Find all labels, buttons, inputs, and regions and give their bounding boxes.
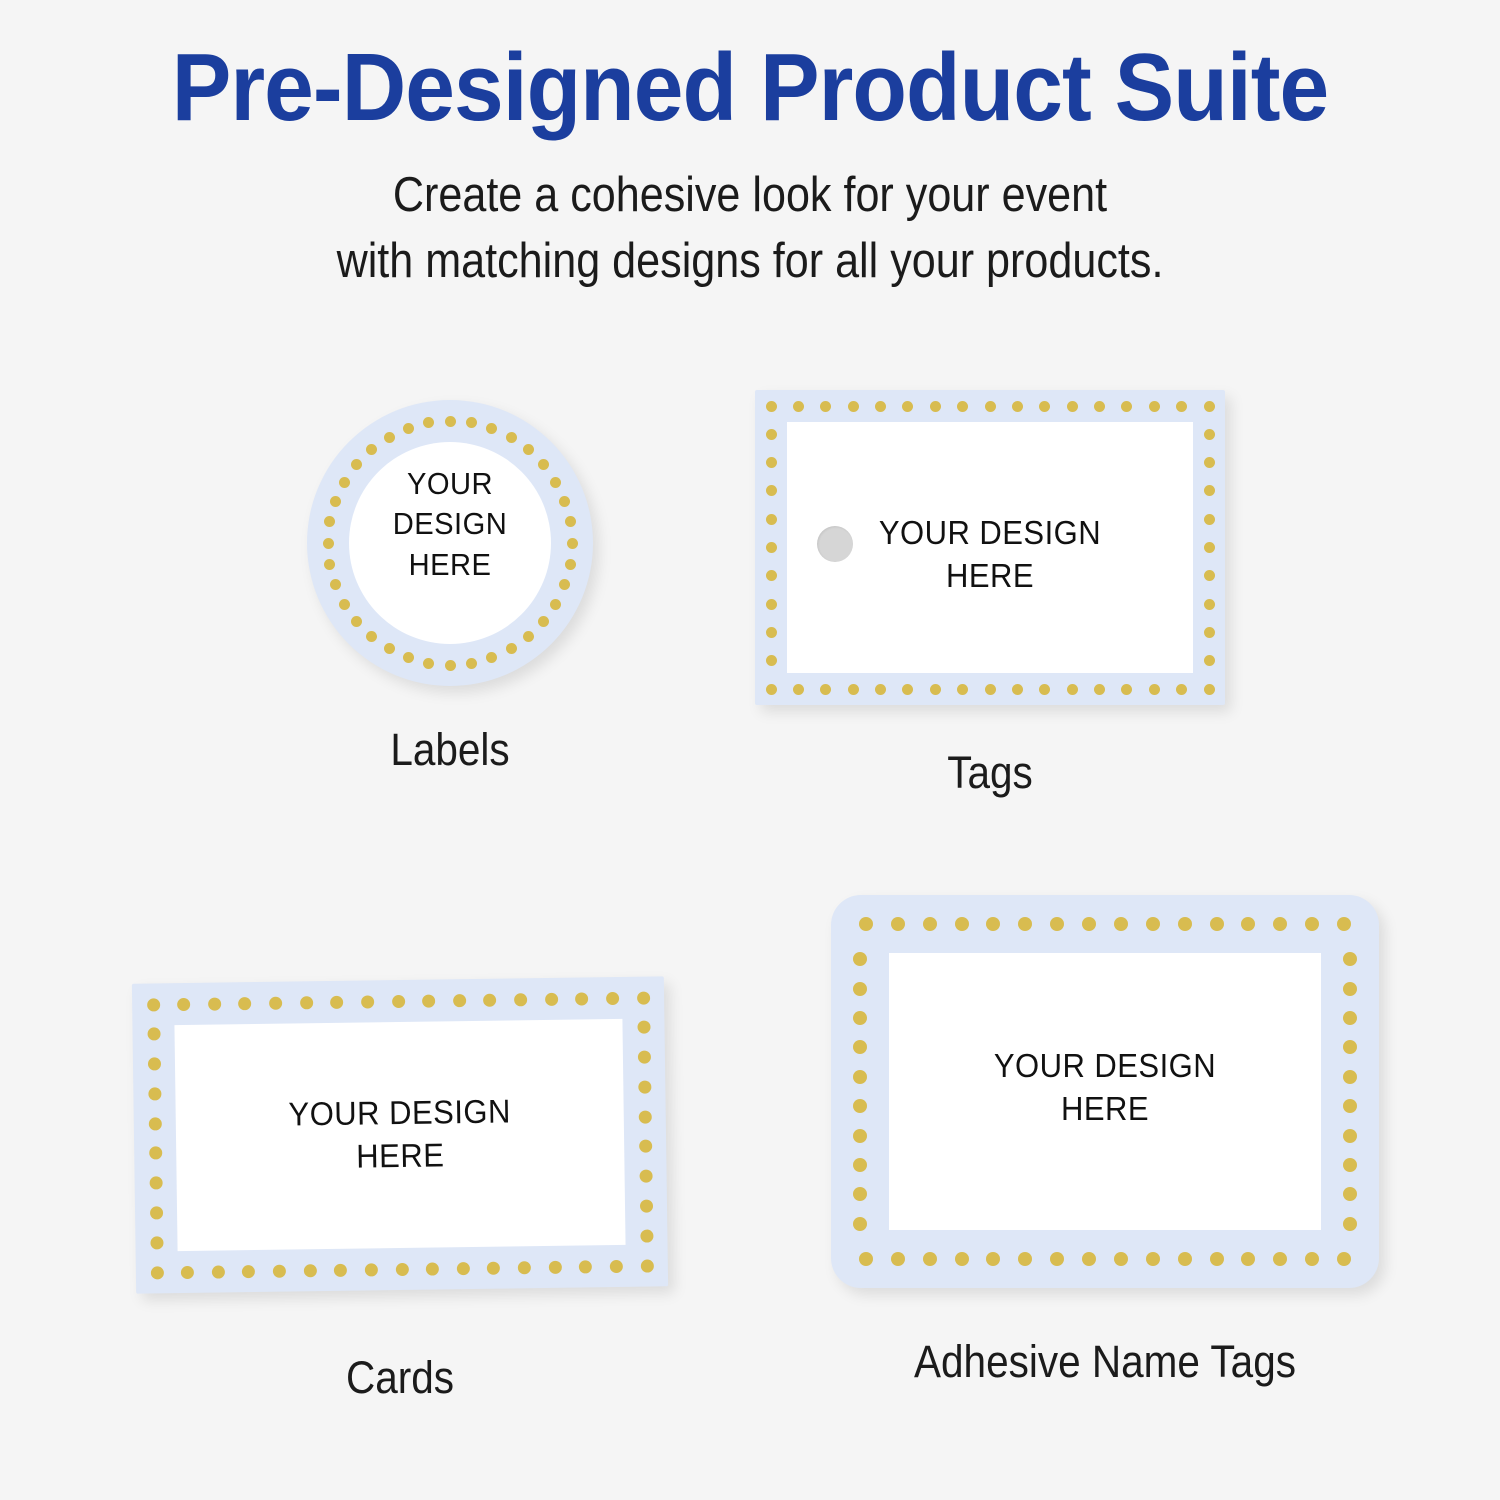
gold-dot: [177, 997, 190, 1010]
caption-tags: Tags: [765, 747, 1215, 799]
gold-dot: [1149, 684, 1160, 695]
gold-dot: [1204, 542, 1215, 553]
gold-dot: [1018, 917, 1032, 931]
gold-dot: [1343, 1040, 1357, 1054]
gold-dot: [793, 684, 804, 695]
gold-dot: [426, 1262, 439, 1275]
gold-dot: [453, 994, 466, 1007]
product-cell-tags[interactable]: YOUR DESIGN HERE Tags: [740, 390, 1240, 799]
gold-dot: [1067, 401, 1078, 412]
gold-dot: [1204, 457, 1215, 468]
gold-dot: [1343, 1187, 1357, 1201]
gold-dot: [238, 997, 251, 1010]
gold-dot: [324, 516, 335, 527]
gold-dot: [1114, 1252, 1128, 1266]
gold-dot: [351, 459, 362, 470]
gold-dot: [1204, 599, 1215, 610]
gold-dot: [853, 1129, 867, 1143]
gold-dot: [1094, 684, 1105, 695]
gold-dot: [930, 401, 941, 412]
gold-dot: [330, 995, 343, 1008]
gold-dot: [1343, 1129, 1357, 1143]
gold-dot: [955, 917, 969, 931]
gold-dot: [986, 1252, 1000, 1266]
gold-dot: [639, 1140, 652, 1153]
gold-dot: [181, 1265, 194, 1278]
gold-dot: [853, 982, 867, 996]
product-cell-adhesive-name-tags[interactable]: YOUR DESIGN HERE Adhesive Name Tags: [790, 895, 1420, 1388]
gold-dot: [1343, 1070, 1357, 1084]
gold-dot: [1082, 917, 1096, 931]
gold-dot: [853, 1217, 867, 1231]
gold-dot: [1204, 570, 1215, 581]
card-inner-area: [174, 1019, 625, 1251]
gold-dot: [339, 477, 350, 488]
gold-dot: [208, 997, 221, 1010]
product-cell-labels[interactable]: YOUR DESIGN HERE Labels: [200, 400, 700, 776]
gold-dot: [351, 616, 362, 627]
gold-dot: [538, 616, 549, 627]
gold-dot: [392, 994, 405, 1007]
gold-dot: [1305, 917, 1319, 931]
gold-dot: [1204, 514, 1215, 525]
gold-dot: [637, 991, 650, 1004]
gold-dot: [1210, 917, 1224, 931]
gold-dot: [638, 1110, 651, 1123]
gold-dot: [486, 423, 497, 434]
gold-dot: [565, 559, 576, 570]
gold-dot: [848, 401, 859, 412]
gold-dot: [1204, 655, 1215, 666]
gold-dot: [514, 993, 527, 1006]
page-subtitle: Create a cohesive look for your event wi…: [90, 140, 1410, 295]
subtitle-line-2: with matching designs for all your produ…: [90, 228, 1410, 295]
gold-dot: [548, 1260, 561, 1273]
gold-dot: [766, 627, 777, 638]
gold-dot: [550, 477, 561, 488]
gold-dot: [550, 599, 561, 610]
gold-dot: [366, 444, 377, 455]
gold-dot: [930, 684, 941, 695]
gold-dot: [147, 998, 160, 1011]
gold-dot: [1204, 401, 1215, 412]
gold-dot: [610, 1259, 623, 1272]
gold-dot: [567, 538, 578, 549]
gold-dot: [523, 444, 534, 455]
gold-dot: [445, 660, 456, 671]
gold-dot: [466, 417, 477, 428]
gold-dot: [518, 1261, 531, 1274]
gold-dot: [395, 1262, 408, 1275]
gold-dot: [766, 514, 777, 525]
gold-dot: [1273, 1252, 1287, 1266]
gold-dot: [1204, 627, 1215, 638]
gold-dot: [640, 1259, 653, 1272]
gold-dot: [859, 1252, 873, 1266]
gold-dot: [1178, 917, 1192, 931]
gold-dot: [559, 496, 570, 507]
gold-dot: [853, 1011, 867, 1025]
gold-dot: [1121, 401, 1132, 412]
gold-dot: [766, 599, 777, 610]
gold-dot: [1305, 1252, 1319, 1266]
gold-dot: [147, 1057, 160, 1070]
gold-dot: [902, 401, 913, 412]
gold-dot: [1343, 952, 1357, 966]
page-title: Pre-Designed Product Suite: [53, 0, 1448, 140]
gold-dot: [923, 917, 937, 931]
gold-dot: [303, 1264, 316, 1277]
gold-dot: [1204, 684, 1215, 695]
gold-dot: [445, 416, 456, 427]
gold-dot: [891, 917, 905, 931]
gold-dot: [579, 1260, 592, 1273]
gold-dot: [985, 684, 996, 695]
gold-dot: [766, 429, 777, 440]
gold-dot: [506, 432, 517, 443]
gold-dot: [820, 684, 831, 695]
gold-dot: [403, 423, 414, 434]
gold-dot: [486, 652, 497, 663]
gold-dot: [1039, 401, 1050, 412]
gold-dot: [149, 1147, 162, 1160]
gold-dot: [1178, 1252, 1192, 1266]
caption-cards: Cards: [126, 1352, 675, 1404]
gold-dot: [639, 1199, 652, 1212]
caption-labels: Labels: [225, 724, 675, 776]
gold-dot: [638, 1080, 651, 1093]
gold-dot: [330, 496, 341, 507]
gold-dot: [466, 658, 477, 669]
gold-dot-frame: [132, 976, 664, 983]
gold-dot: [957, 401, 968, 412]
gold-dot: [565, 516, 576, 527]
gold-dot: [639, 1170, 652, 1183]
gold-dot: [403, 652, 414, 663]
gold-dot: [149, 1176, 162, 1189]
gold-dot: [148, 1087, 161, 1100]
gold-dot: [457, 1262, 470, 1275]
gold-dot: [1343, 1011, 1357, 1025]
gold-dot: [423, 658, 434, 669]
gold-dot: [766, 684, 777, 695]
gold-dot: [1067, 684, 1078, 695]
gold-dot: [853, 952, 867, 966]
gold-dot: [1039, 684, 1050, 695]
gold-dot: [1204, 485, 1215, 496]
gold-dot: [1018, 1252, 1032, 1266]
gold-dot: [150, 1236, 163, 1249]
gold-dot: [766, 655, 777, 666]
gold-dot: [422, 994, 435, 1007]
gold-dot: [506, 643, 517, 654]
tag-mockup[interactable]: YOUR DESIGN HERE: [755, 390, 1225, 705]
gold-dot: [483, 993, 496, 1006]
caption-adhesive-name-tags: Adhesive Name Tags: [822, 1336, 1389, 1388]
gold-dot: [606, 991, 619, 1004]
gold-dot: [766, 485, 777, 496]
subtitle-line-1: Create a cohesive look for your event: [90, 162, 1410, 229]
label-inner-area: [349, 442, 551, 644]
gold-dot: [1114, 917, 1128, 931]
gold-dot: [853, 1099, 867, 1113]
gold-dot: [324, 559, 335, 570]
gold-dot: [637, 1051, 650, 1064]
gold-dot: [875, 684, 886, 695]
gold-dot: [384, 643, 395, 654]
gold-dot: [986, 917, 1000, 931]
gold-dot: [853, 1040, 867, 1054]
gold-dot: [1012, 684, 1023, 695]
gold-dot: [985, 401, 996, 412]
gold-dot: [148, 1117, 161, 1130]
gold-dot: [1343, 1217, 1357, 1231]
gold-dot: [1337, 1252, 1351, 1266]
gold-dot: [323, 538, 334, 549]
gold-dot: [339, 599, 350, 610]
gold-dot: [902, 684, 913, 695]
gold-dot: [1343, 982, 1357, 996]
gold-dot: [923, 1252, 937, 1266]
gold-dot: [1343, 1158, 1357, 1172]
gold-dot: [423, 417, 434, 428]
gold-dot: [766, 570, 777, 581]
gold-dot: [1094, 401, 1105, 412]
gold-dot: [365, 1263, 378, 1276]
header: Pre-Designed Product Suite Create a cohe…: [0, 0, 1500, 295]
gold-dot: [1176, 401, 1187, 412]
product-suite-grid: YOUR DESIGN HERE Labels YOUR DESIGN HERE…: [0, 380, 1500, 1440]
gold-dot: [853, 1070, 867, 1084]
gold-dot: [853, 1187, 867, 1201]
gold-dot: [334, 1263, 347, 1276]
gold-dot: [1273, 917, 1287, 931]
gold-dot: [300, 996, 313, 1009]
gold-dot: [1050, 917, 1064, 931]
product-cell-cards[interactable]: YOUR DESIGN HERE Cards: [95, 980, 705, 1404]
gold-dot: [538, 459, 549, 470]
gold-dot: [269, 996, 282, 1009]
gold-dot: [640, 1229, 653, 1242]
gold-dot: [1012, 401, 1023, 412]
gold-dot: [1149, 401, 1160, 412]
gold-dot: [955, 1252, 969, 1266]
punch-hole-icon: [817, 526, 853, 562]
gold-dot: [1082, 1252, 1096, 1266]
gold-dot: [1146, 1252, 1160, 1266]
gold-dot: [1050, 1252, 1064, 1266]
gold-dot: [575, 992, 588, 1005]
gold-dot: [1210, 1252, 1224, 1266]
gold-dot: [212, 1265, 225, 1278]
gold-dot: [875, 401, 886, 412]
name-tag-inner-area: [889, 953, 1321, 1230]
gold-dot: [361, 995, 374, 1008]
gold-dot: [766, 542, 777, 553]
gold-dot: [487, 1261, 500, 1274]
gold-dot: [1176, 684, 1187, 695]
adhesive-name-tag-mockup[interactable]: YOUR DESIGN HERE: [831, 895, 1379, 1288]
gold-dot: [1241, 917, 1255, 931]
round-label-mockup[interactable]: YOUR DESIGN HERE: [307, 400, 593, 686]
gold-dot: [242, 1265, 255, 1278]
gold-dot: [859, 917, 873, 931]
gold-dot: [147, 1028, 160, 1041]
gold-dot: [1337, 917, 1351, 931]
gold-dot: [149, 1206, 162, 1219]
gold-dot: [523, 631, 534, 642]
gold-dot: [330, 579, 341, 590]
gold-dot: [273, 1264, 286, 1277]
gold-dot: [1241, 1252, 1255, 1266]
gold-dot: [366, 631, 377, 642]
gold-dot: [766, 401, 777, 412]
gold-dot: [150, 1266, 163, 1279]
gold-dot: [384, 432, 395, 443]
gold-dot: [1204, 429, 1215, 440]
gold-dot: [559, 579, 570, 590]
gold-dot: [820, 401, 831, 412]
gold-dot: [1146, 917, 1160, 931]
gold-dot: [766, 457, 777, 468]
gold-dot: [545, 992, 558, 1005]
gold-dot: [957, 684, 968, 695]
gold-dot: [853, 1158, 867, 1172]
card-mockup[interactable]: YOUR DESIGN HERE: [132, 976, 668, 1293]
gold-dot: [1343, 1099, 1357, 1113]
gold-dot: [793, 401, 804, 412]
gold-dot: [1121, 684, 1132, 695]
gold-dot: [891, 1252, 905, 1266]
gold-dot: [637, 1021, 650, 1034]
gold-dot: [848, 684, 859, 695]
